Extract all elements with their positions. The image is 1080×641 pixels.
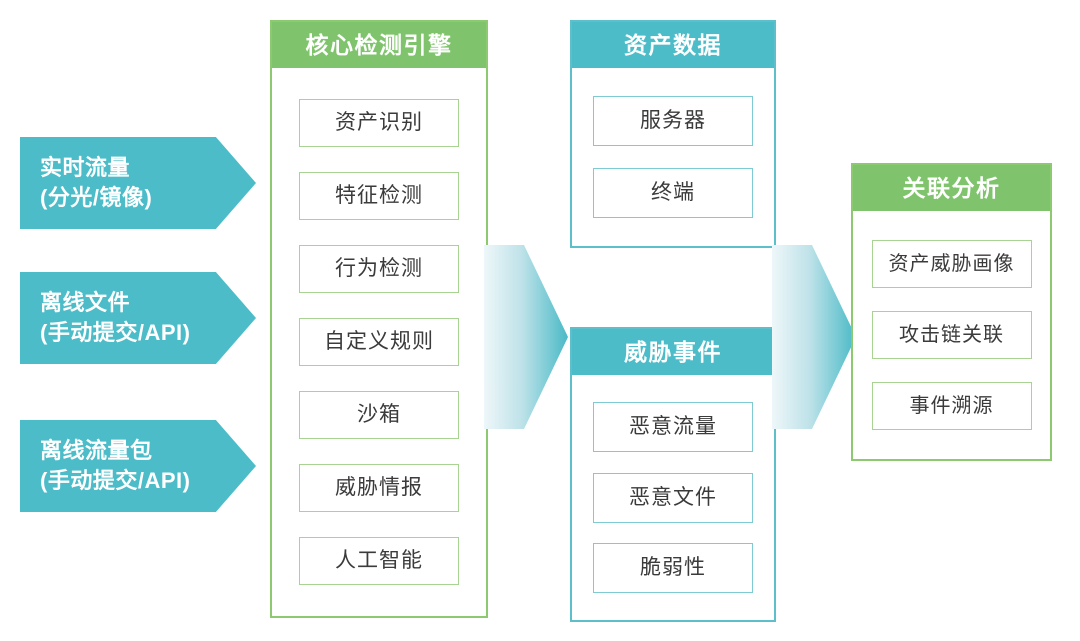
item-server[interactable]: 服务器 <box>593 96 753 146</box>
connector-chevron-engine-to-data <box>484 237 568 437</box>
panel-threat-events-title: 威胁事件 <box>572 329 774 375</box>
panel-asset-data-body: 服务器 终端 <box>572 68 774 246</box>
panel-core-engine-body: 资产识别 特征检测 行为检测 自定义规则 沙箱 威胁情报 人工智能 <box>272 68 486 616</box>
item-signature-detection[interactable]: 特征检测 <box>299 172 459 220</box>
panel-correlation-analysis-body: 资产威胁画像 攻击链关联 事件溯源 <box>853 211 1050 459</box>
item-event-traceability[interactable]: 事件溯源 <box>872 382 1032 430</box>
item-sandbox[interactable]: 沙箱 <box>299 391 459 439</box>
chevron-right-icon <box>772 237 856 437</box>
item-threat-intelligence[interactable]: 威胁情报 <box>299 464 459 512</box>
connector-chevron-data-to-correlation <box>772 237 856 437</box>
panel-core-engine: 核心检测引擎 资产识别 特征检测 行为检测 自定义规则 沙箱 威胁情报 人工智能 <box>270 20 488 618</box>
input-arrow-offline-file[interactable]: 离线文件 (手动提交/API) <box>20 272 256 364</box>
panel-correlation-analysis-title: 关联分析 <box>853 165 1050 211</box>
panel-correlation-analysis: 关联分析 资产威胁画像 攻击链关联 事件溯源 <box>851 163 1052 461</box>
item-malicious-file[interactable]: 恶意文件 <box>593 473 753 523</box>
item-behavior-detection[interactable]: 行为检测 <box>299 245 459 293</box>
item-asset-identification[interactable]: 资产识别 <box>299 99 459 147</box>
panel-asset-data-title: 资产数据 <box>572 22 774 68</box>
input-arrow-line-2: (手动提交/API) <box>40 318 256 348</box>
diagram-canvas: 实时流量 (分光/镜像) 离线文件 (手动提交/API) 离线流量包 (手动提交… <box>0 0 1080 641</box>
panel-threat-events: 威胁事件 恶意流量 恶意文件 脆弱性 <box>570 327 776 622</box>
item-asset-threat-profile[interactable]: 资产威胁画像 <box>872 240 1032 288</box>
item-vulnerability[interactable]: 脆弱性 <box>593 543 753 593</box>
input-arrow-line-2: (手动提交/API) <box>40 466 256 496</box>
item-custom-rules[interactable]: 自定义规则 <box>299 318 459 366</box>
chevron-right-icon <box>484 237 568 437</box>
item-endpoint[interactable]: 终端 <box>593 168 753 218</box>
input-arrow-line-1: 离线文件 <box>40 288 256 318</box>
item-artificial-intelligence[interactable]: 人工智能 <box>299 537 459 585</box>
panel-asset-data: 资产数据 服务器 终端 <box>570 20 776 248</box>
input-arrow-offline-traffic-package[interactable]: 离线流量包 (手动提交/API) <box>20 420 256 512</box>
item-attack-chain-correlation[interactable]: 攻击链关联 <box>872 311 1032 359</box>
panel-threat-events-body: 恶意流量 恶意文件 脆弱性 <box>572 375 774 620</box>
input-arrow-line-1: 实时流量 <box>40 153 256 183</box>
input-arrow-line-2: (分光/镜像) <box>40 183 256 213</box>
input-arrow-realtime-traffic[interactable]: 实时流量 (分光/镜像) <box>20 137 256 229</box>
item-malicious-traffic[interactable]: 恶意流量 <box>593 402 753 452</box>
input-arrow-line-1: 离线流量包 <box>40 436 256 466</box>
panel-core-engine-title: 核心检测引擎 <box>272 22 486 68</box>
